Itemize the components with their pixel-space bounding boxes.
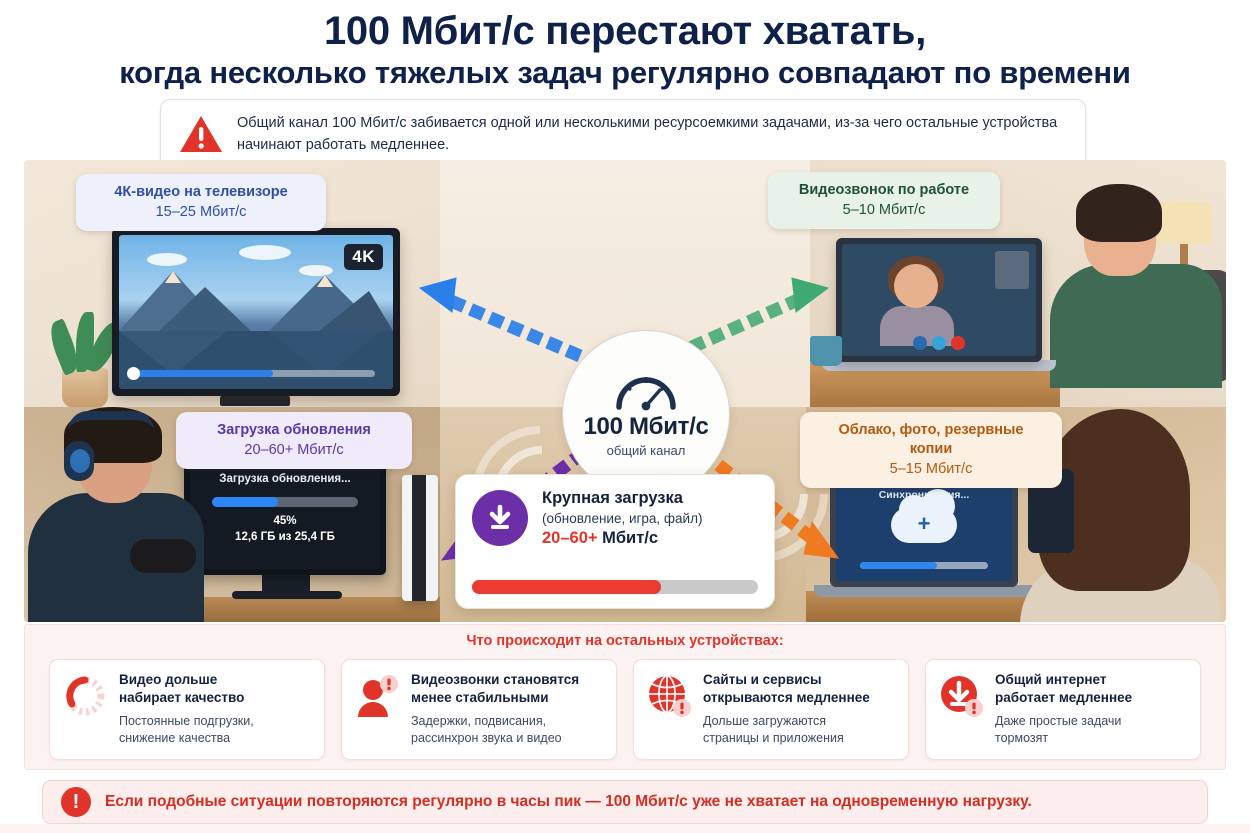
gauge-caption: общий канал: [607, 443, 686, 458]
laptop-screen: [842, 244, 1036, 356]
infographic-page: 100 Мбит/с перестают хватать, когда неск…: [0, 0, 1250, 833]
consequence-title-line2: менее стабильными: [411, 690, 549, 705]
card-progress-bar: [472, 580, 758, 594]
consequence-title-line1: Сайты и сервисы: [703, 672, 822, 687]
label-cloud-backup: Облако, фото, резервные копии 5–15 Мбит/…: [800, 412, 1062, 488]
sync-progress-bar: [860, 562, 988, 569]
consequence-title-line1: Видео дольше: [119, 672, 217, 687]
consequence-title-line2: работает медленнее: [995, 690, 1132, 705]
page-title-line1: 100 Мбит/с перестают хватать,: [20, 10, 1230, 52]
globe-alert-icon: [646, 673, 692, 719]
laptop-screen: Синхронизация... +: [836, 477, 1012, 581]
call-hangup-button[interactable]: [951, 336, 965, 350]
cloud-upload-icon: +: [891, 507, 957, 543]
sync-progress-fill: [860, 562, 937, 569]
card-speed-value: 20–60+: [542, 529, 598, 547]
label-speed: 5–10 Мбит/с: [784, 201, 984, 221]
label-title: 4К-видео на телевизоре: [92, 183, 310, 202]
tv-progress-fill: [131, 370, 273, 377]
laptop-videocall: [836, 238, 1042, 362]
caller-head: [894, 264, 938, 308]
person-on-call: [1046, 186, 1222, 382]
download-circle-icon: [472, 490, 528, 546]
consequence-title-line2: набирает качество: [119, 690, 244, 705]
consequence-sub-line2: тормозят: [995, 731, 1048, 745]
label-speed: 20–60+ Мбит/с: [192, 441, 396, 461]
summary-banner-text: Если подобные ситуации повторяются регул…: [105, 793, 1032, 811]
headphone-band: [68, 411, 154, 431]
consequence-sub-line1: Задержки, подвисания,: [411, 714, 546, 728]
monitor-progress-bar: [212, 497, 358, 507]
television: 4K: [112, 228, 400, 396]
label-title: Загрузка обновления: [192, 421, 396, 440]
consequence-sub-line1: Постоянные подгрузки,: [119, 714, 254, 728]
consequence-sub-line2: страницы и приложения: [703, 731, 844, 745]
footer-strip: [0, 824, 1250, 833]
card-speed: 20–60+ Мбит/с: [542, 529, 702, 548]
consequence-sub-line2: снижение качества: [119, 731, 230, 745]
consequence-card: Видеозвонки становятсяменее стабильными …: [341, 659, 617, 760]
label-tv-video: 4К-видео на телевизоре 15–25 Мбит/с: [76, 174, 326, 231]
consequence-sub-line1: Дольше загружаются: [703, 714, 826, 728]
label-title: Видеозвонок по работе: [784, 181, 984, 200]
consequence-card: Сайты и сервисыоткрываются медленнее Дол…: [633, 659, 909, 760]
self-view-thumbnail: [995, 251, 1029, 289]
monitor-progress-fill: [212, 497, 278, 507]
consequences-heading: Что происходит на остальных устройствах:: [25, 625, 1225, 649]
monitor-screen: Загрузка обновления... 45% 12,6 ГБ из 25…: [190, 461, 380, 569]
call-controls: [913, 336, 965, 350]
console-center-panel: [412, 475, 426, 601]
card-title: Крупная загрузка: [542, 489, 702, 509]
tv-stand: [220, 396, 290, 406]
summary-banner: ! Если подобные ситуации повторяются рег…: [42, 780, 1208, 824]
coffee-mug: [810, 336, 842, 366]
person-body: [1050, 264, 1222, 388]
laptop-sync: Синхронизация... +: [830, 471, 1018, 587]
tv-progress-knob: [127, 367, 140, 380]
call-info-button[interactable]: [913, 336, 927, 350]
tv-progress-bar: [131, 370, 375, 377]
cloud-plus-glyph: +: [918, 513, 931, 535]
label-speed: 15–25 Мбит/с: [92, 203, 310, 223]
download-status-text: Загрузка обновления...: [190, 473, 380, 485]
person-hair: [1076, 184, 1162, 242]
warning-triangle-icon: [179, 114, 223, 154]
shared-channel-gauge: 100 Мбит/с общий канал: [562, 330, 730, 498]
headphone-cup-inner: [70, 449, 90, 473]
consequences-section: Что происходит на остальных устройствах:…: [24, 624, 1226, 770]
gaming-monitor: Загрузка обновления... 45% 12,6 ГБ из 25…: [184, 455, 386, 575]
consequence-card: Видео дольшенабирает качество Постоянные…: [49, 659, 325, 760]
tv-screen: 4K: [119, 235, 393, 389]
card-speed-unit: Мбит/с: [598, 529, 659, 547]
consequences-cards: Видео дольшенабирает качество Постоянные…: [25, 649, 1225, 760]
label-speed: 5–15 Мбит/с: [816, 460, 1046, 480]
consequence-title-line2: открываются медленнее: [703, 690, 870, 705]
card-subtitle: (обновление, игра, файл): [542, 511, 702, 526]
monitor-stand: [262, 575, 310, 593]
gauge-value: 100 Мбит/с: [583, 413, 708, 441]
consequence-sub-line2: рассинхрон звука и видео: [411, 731, 562, 745]
game-console: [402, 475, 438, 601]
label-download: Загрузка обновления 20–60+ Мбит/с: [176, 412, 412, 469]
exclamation-circle-icon: !: [61, 787, 91, 817]
card-progress-fill: [472, 580, 661, 594]
call-video-button[interactable]: [932, 336, 946, 350]
speedometer-icon: [613, 371, 679, 411]
header: 100 Мбит/с перестают хватать, когда неск…: [0, 0, 1250, 91]
consequence-title-line1: Общий интернет: [995, 672, 1107, 687]
game-controller: [130, 539, 196, 573]
download-size: 12,6 ГБ из 25,4 ГБ: [190, 531, 380, 543]
badge-4k: 4K: [344, 244, 383, 270]
consequence-sub-line1: Даже простые задачи: [995, 714, 1121, 728]
download-percent: 45%: [190, 515, 380, 527]
buffering-spinner-icon: [62, 673, 108, 719]
consequence-card: Общий интернетработает медленнее Даже пр…: [925, 659, 1201, 760]
page-title-line2: когда несколько тяжелых задач регулярно …: [20, 56, 1230, 91]
download-alert-icon: [938, 673, 984, 719]
large-download-card: Крупная загрузка (обновление, игра, файл…: [455, 474, 775, 609]
label-title: Облако, фото, резервные копии: [816, 421, 1046, 459]
consequence-title-line1: Видеозвонки становятся: [411, 672, 579, 687]
notice-text: Общий канал 100 Мбит/с забивается одной …: [237, 112, 1067, 157]
person-alert-icon: [354, 673, 400, 719]
label-videocall: Видеозвонок по работе 5–10 Мбит/с: [768, 172, 1000, 229]
